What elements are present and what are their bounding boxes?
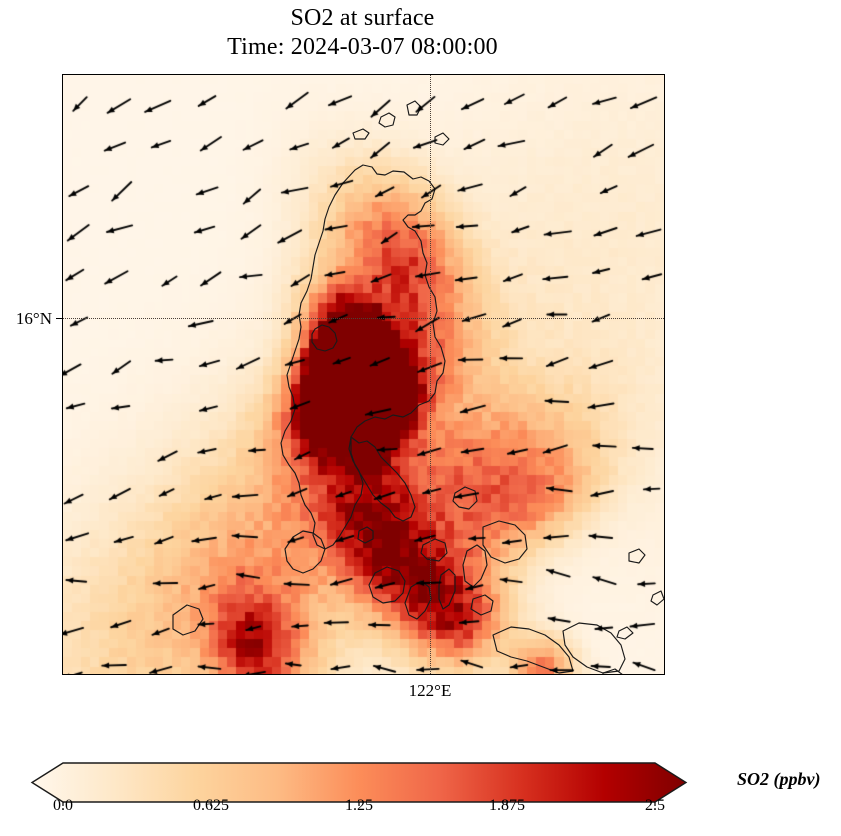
colorbar-tick-label: 1.875 — [467, 797, 547, 815]
colorbar-tick-label: 0.0 — [23, 797, 103, 815]
colorbar-label: SO2 (ppbv) — [737, 769, 821, 790]
axis-tick-label-latitude: 16°N — [0, 309, 52, 329]
colorbar[interactable]: SO2 (ppbv) 0.00.6251.251.8752.5 — [0, 758, 841, 836]
colorbar-tick-label: 0.625 — [171, 797, 251, 815]
figure-title: SO2 at surface Time: 2024-03-07 08:00:00 — [0, 4, 725, 62]
axis-tick-label-longitude: 122°E — [390, 681, 470, 701]
title-primary: SO2 at surface — [0, 4, 725, 33]
map-plot-area[interactable] — [62, 74, 665, 675]
figure-canvas: SO2 at surface Time: 2024-03-07 08:00:00… — [0, 0, 841, 836]
title-timestamp: Time: 2024-03-07 08:00:00 — [0, 33, 725, 62]
gridline-longitude-122e — [430, 75, 431, 674]
colorbar-tick-label: 2.5 — [615, 797, 695, 815]
colorbar-tick-label: 1.25 — [319, 797, 399, 815]
wind-vector-overlay — [63, 75, 664, 674]
gridline-latitude-16n — [63, 318, 664, 319]
colorbar-gradient — [0, 758, 841, 808]
